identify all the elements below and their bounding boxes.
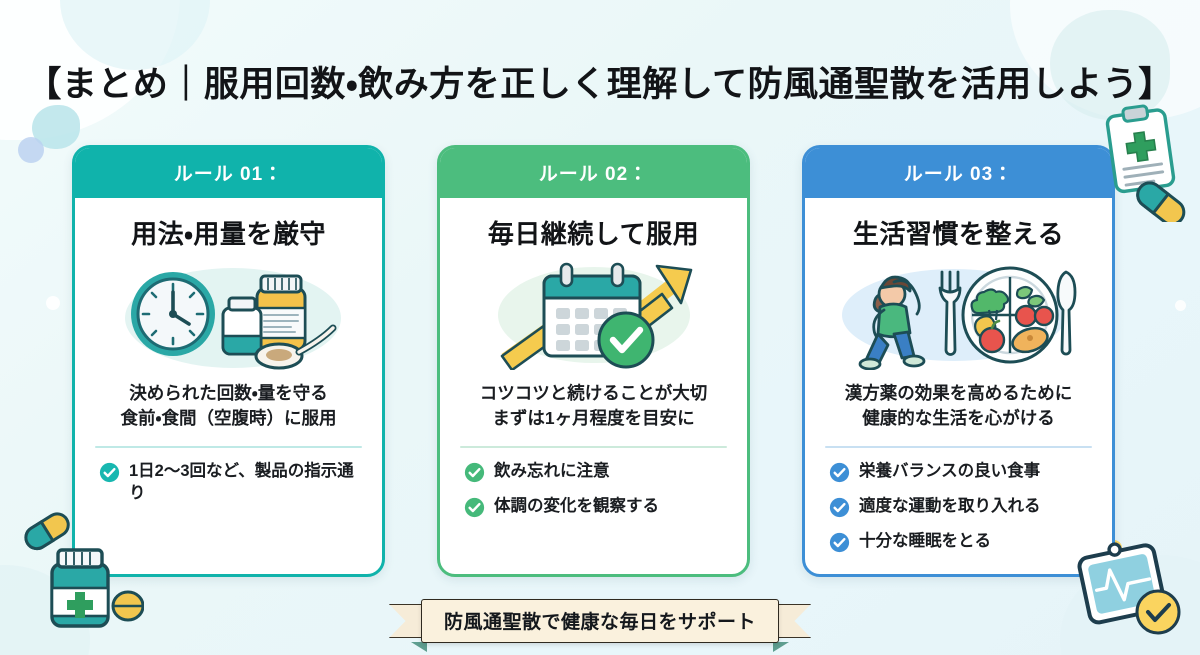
check-circle-icon <box>829 462 850 488</box>
rule-card-01-divider <box>95 446 362 448</box>
ribbon: 防風通聖散で健康な毎日をサポート <box>389 599 811 643</box>
bg-dot-white-1 <box>46 296 60 310</box>
calendar-arrow-check-icon <box>454 259 733 371</box>
check-list-item-label: 体調の変化を観察する <box>494 495 659 517</box>
check-circle-icon <box>464 497 485 523</box>
bg-dot-white-3 <box>1175 300 1186 311</box>
check-list-item-label: 十分な睡眠をとる <box>859 530 991 552</box>
check-list-item: 飲み忘れに注意 <box>464 460 733 488</box>
check-list-item: 1日2〜3回など、製品の指示通り <box>99 460 368 505</box>
rule-card-02-check-list: 飲み忘れに注意 体調の変化を観察する <box>454 460 733 523</box>
rule-card-03-desc: 漢方薬の効果を高めるために 健康的な生活を心がける <box>819 381 1098 432</box>
clock-medicine-bottles-spoon-icon <box>89 259 368 371</box>
check-circle-icon <box>829 497 850 523</box>
check-circle-icon <box>464 462 485 488</box>
rule-card-01-body: 用法・用量を厳守 <box>75 198 382 574</box>
rule-card-02-desc-line2: まずは1ヶ月程度を目安に <box>454 406 733 431</box>
exercise-healthy-plate-icon <box>819 259 1098 371</box>
ribbon-tail-right <box>775 604 811 638</box>
check-list-item-label: 飲み忘れに注意 <box>494 460 610 482</box>
rule-card-03[interactable]: ルール 03： 生活習慣を整える <box>802 145 1115 577</box>
support-banner: 防風通聖散で健康な毎日をサポート <box>0 599 1200 643</box>
check-list-item: 適度な運動を取り入れる <box>829 495 1098 523</box>
rule-card-03-body: 生活習慣を整える <box>805 198 1112 574</box>
check-list-item-label: 1日2〜3回など、製品の指示通り <box>129 460 368 505</box>
rule-card-02-desc-line1: コツコツと続けることが大切 <box>454 381 733 406</box>
rule-card-01[interactable]: ルール 01： 用法・用量を厳守 <box>72 145 385 577</box>
bg-blob-small-teal <box>32 105 80 149</box>
rule-card-02-header: ルール 02： <box>440 148 747 198</box>
ribbon-fold-right <box>773 642 789 652</box>
rule-card-01-desc-line1: 決められた回数・量を守る <box>89 381 368 406</box>
rule-card-03-desc-line1: 漢方薬の効果を高めるために <box>819 381 1098 406</box>
rule-card-03-desc-line2: 健康的な生活を心がける <box>819 406 1098 431</box>
rule-card-02-title: 毎日継続して服用 <box>454 214 733 251</box>
rule-card-02-desc: コツコツと続けることが大切 まずは1ヶ月程度を目安に <box>454 381 733 432</box>
rule-card-03-header: ルール 03： <box>805 148 1112 198</box>
rule-card-01-desc: 決められた回数・量を守る 食前・食間（空腹時）に服用 <box>89 381 368 432</box>
rule-card-01-desc-line2: 食前・食間（空腹時）に服用 <box>89 406 368 431</box>
rule-card-03-title: 生活習慣を整える <box>819 214 1098 251</box>
rule-card-01-check-list: 1日2〜3回など、製品の指示通り <box>89 460 368 505</box>
rule-card-02-divider <box>460 446 727 448</box>
check-circle-icon <box>99 462 120 488</box>
check-list-item: 体調の変化を観察する <box>464 495 733 523</box>
rule-card-03-check-list: 栄養バランスの良い食事 適度な運動を取り入れる 十分な睡眠をとる <box>819 460 1098 558</box>
ribbon-tail-left <box>389 604 425 638</box>
rule-card-03-divider <box>825 446 1092 448</box>
bg-blob-small-blue <box>18 137 44 163</box>
page-title: 【まとめ｜服用回数・飲み方を正しく理解して防風通聖散を活用しよう】 <box>0 56 1200 107</box>
ribbon-body: 防風通聖散で健康な毎日をサポート <box>421 599 779 643</box>
rule-card-02-body: 毎日継続して服用 <box>440 198 747 574</box>
rule-card-01-header: ルール 01： <box>75 148 382 198</box>
check-circle-icon <box>829 532 850 558</box>
check-list-item-label: 適度な運動を取り入れる <box>859 495 1041 517</box>
check-list-item: 十分な睡眠をとる <box>829 530 1098 558</box>
check-list-item-label: 栄養バランスの良い食事 <box>859 460 1040 482</box>
rule-cards-container: ルール 01： 用法・用量を厳守 <box>72 145 1128 577</box>
check-list-item: 栄養バランスの良い食事 <box>829 460 1098 488</box>
rule-card-01-title: 用法・用量を厳守 <box>89 214 368 251</box>
banner-text: 防風通聖散で健康な毎日をサポート <box>444 612 756 633</box>
ribbon-fold-left <box>411 642 427 652</box>
rule-card-02[interactable]: ルール 02： 毎日継続して服用 <box>437 145 750 577</box>
